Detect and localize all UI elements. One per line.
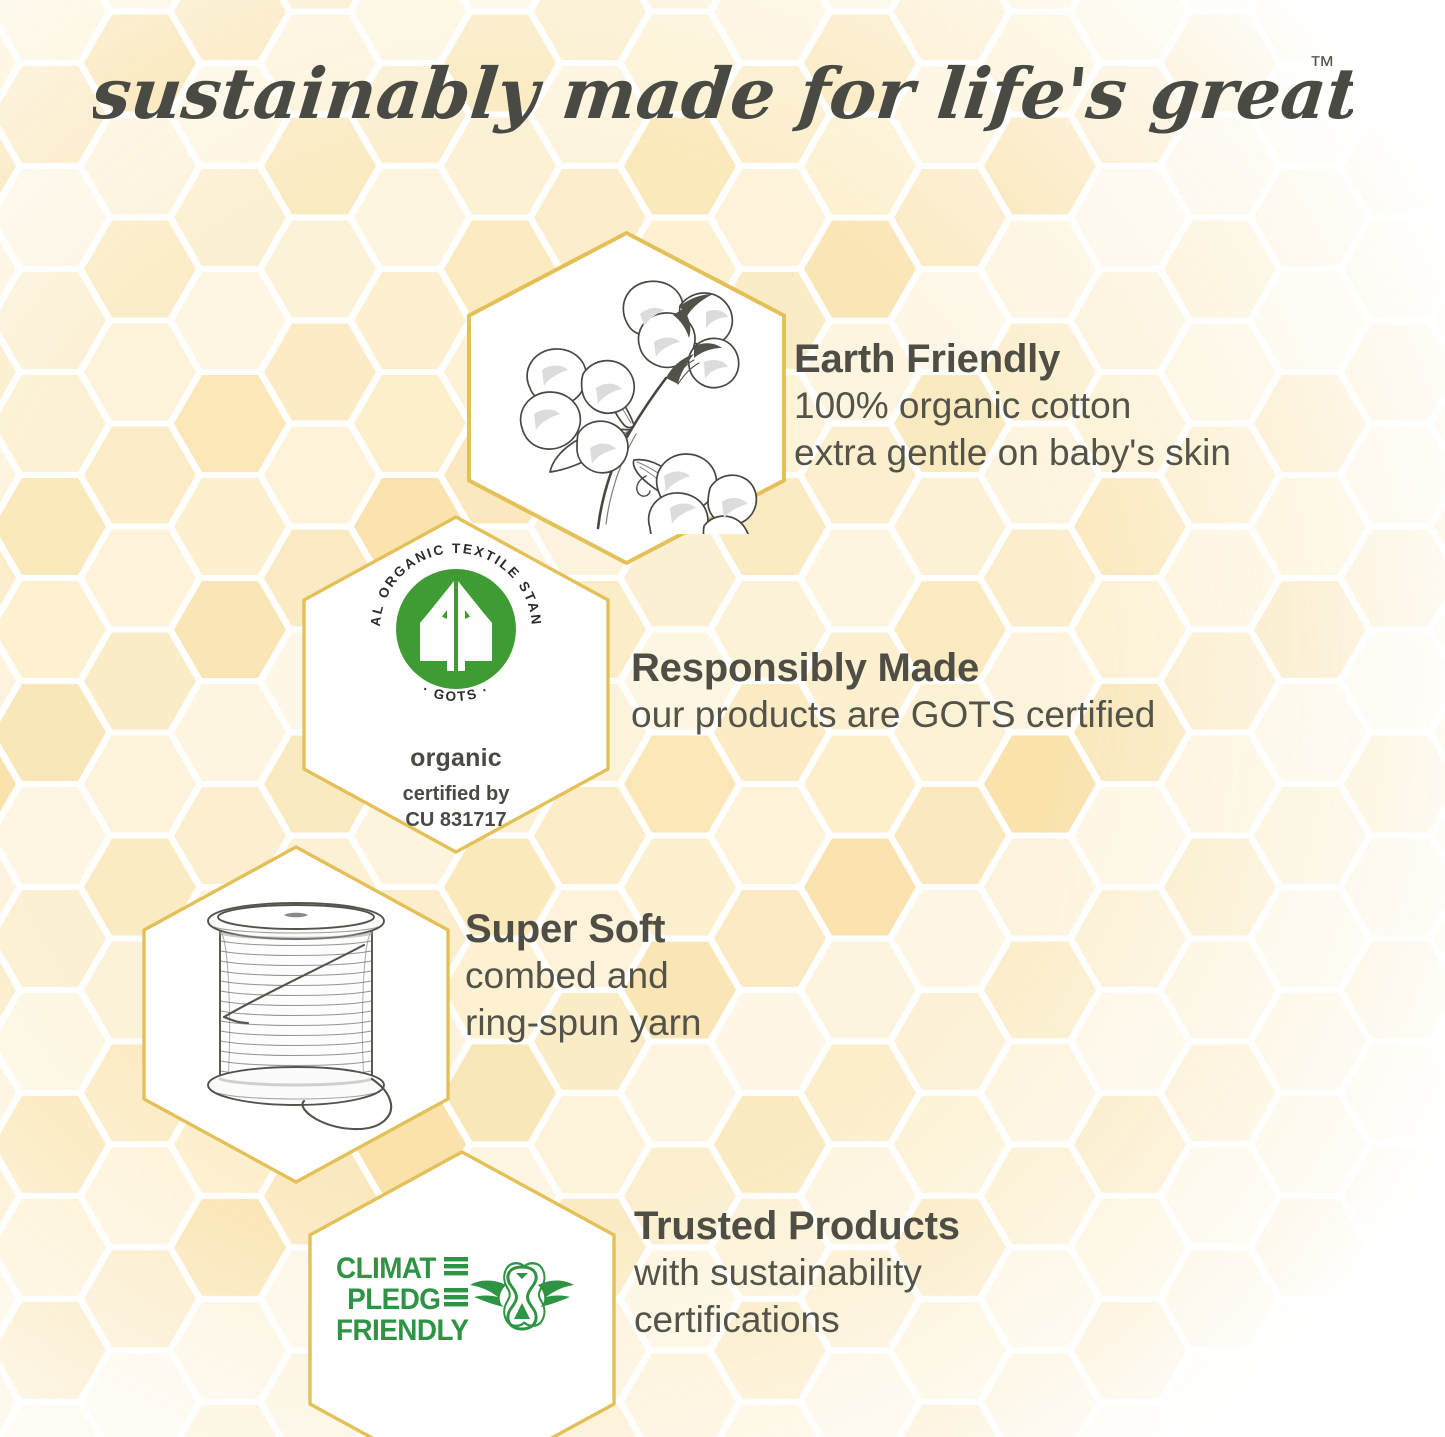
gots-certifier-code: CU 831717 [358,808,554,832]
feature-title: Trusted Products [634,1203,960,1250]
winged-hourglass-icon [470,1263,574,1329]
hexagon-card-trusted-products: CLIMAT PLEDG FRIENDLY [306,1148,618,1437]
headline-script-text: sustainably made for life's greatest joy… [93,44,1353,148]
feature-line: 100% organic cotton [794,383,1231,430]
gots-caption: organic [358,744,554,773]
cotton-branch-icon [494,262,759,534]
hexagon-card-super-soft [140,843,452,1186]
cpf-line-1: CLIMAT [336,1252,437,1285]
thread-spool-icon [178,893,414,1133]
gots-seal-icon: GLOBAL ORGANIC TEXTILE STANDARD · GOTS · [358,531,554,727]
feature-title: Super Soft [465,906,702,953]
climate-pledge-friendly-logo: CLIMAT PLEDG FRIENDLY [336,1249,588,1357]
trademark-symbol: ™ [1309,50,1335,80]
headline-text: sustainably made for life's greatest joy [93,52,1353,135]
feature-line: extra gentle on baby's skin [794,430,1231,477]
feature-title: Responsibly Made [631,645,1155,692]
feature-line: combed and [465,953,702,1000]
cpf-line-2: PLEDG [347,1283,440,1316]
feature-title: Earth Friendly [794,336,1231,383]
promo-graphic: sustainably made for life's greatest joy… [0,0,1445,1437]
feature-line: with sustainability [634,1250,960,1297]
climate-pledge-friendly-mark: CLIMAT PLEDG FRIENDLY [336,1249,588,1357]
feature-line: certifications [634,1297,960,1344]
headline-banner: sustainably made for life's greatest joy… [0,44,1445,144]
gots-certification-logo: GLOBAL ORGANIC TEXTILE STANDARD · GOTS ·… [358,531,554,832]
feature-text-responsibly-made: Responsibly Made our products are GOTS c… [631,645,1155,739]
hexagon-card-responsibly-made: GLOBAL ORGANIC TEXTILE STANDARD · GOTS ·… [300,513,612,856]
feature-text-earth-friendly: Earth Friendly 100% organic cotton extra… [794,336,1231,476]
feature-line: our products are GOTS certified [631,692,1155,739]
feature-text-super-soft: Super Soft combed and ring-spun yarn [465,906,702,1046]
feature-line: ring-spun yarn [465,1000,702,1047]
gots-certified-by: certified by [358,782,554,806]
feature-text-trusted-products: Trusted Products with sustainability cer… [634,1203,960,1343]
cpf-line-3: FRIENDLY [336,1314,469,1347]
